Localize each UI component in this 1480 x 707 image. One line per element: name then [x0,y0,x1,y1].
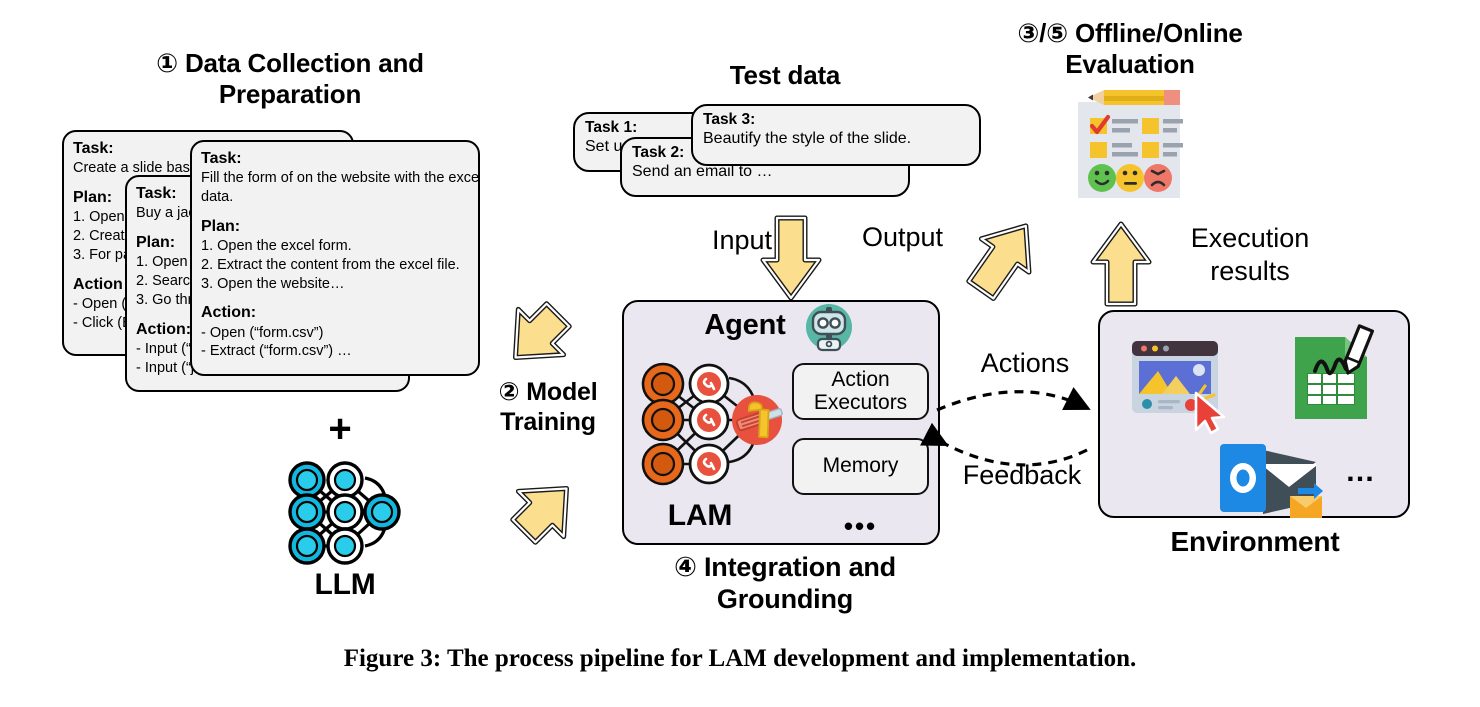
environment-label: Environment [1100,525,1410,558]
card3-plan-3: 3. Open the website… [201,275,469,294]
execution-results-line1: Execution [1160,222,1340,255]
figure-canvas: ① Data Collection and Preparation Task: … [0,0,1480,707]
robot-icon [805,303,853,351]
lam-label: LAM [645,498,755,533]
testdata-title: Test data [660,60,910,91]
execution-results-line2: results [1160,255,1340,288]
arrow-up-right-output-icon [962,210,1050,302]
module-action-executors[interactable]: Action Executors [792,363,929,420]
spreadsheet-pen-icon [1285,325,1381,430]
stage1-title: ① Data Collection and Preparation [95,48,485,109]
module-memory-label: Memory [823,455,899,477]
module-action-executors-line1: Action [831,369,889,391]
arrow-up-right-icon [500,470,592,548]
llm-label: LLM [280,567,410,602]
card3-action-2: - Extract (“form.csv”) … [201,342,469,361]
test-card3-label: Task 3: [703,110,969,129]
card3-plan-2: 2. Extract the content from the excel fi… [201,256,469,275]
outlook-mail-icon [1218,440,1328,515]
training-sample-card-3[interactable]: Task: Fill the form of on the website wi… [190,140,480,376]
agent-title: Agent [680,308,810,342]
evaluation-checklist-icon [1068,88,1190,200]
actions-label: Actions [950,348,1100,379]
plus-symbol: + [305,406,375,453]
stage4-title-line1: ④ Integration and [620,552,950,584]
neural-network-icon [270,450,420,570]
evaluation-title-line1: ③/⑤ Offline/Online [950,18,1310,49]
module-action-executors-line2: Executors [814,392,907,414]
stage1-title-line2: Preparation [95,79,485,110]
card3-task-label: Task: [201,148,469,169]
web-browser-icon [1128,335,1243,435]
evaluation-title: ③/⑤ Offline/Online Evaluation [950,18,1310,79]
stage4-title: ④ Integration and Grounding [620,552,950,616]
card3-action-1: - Open (“form.csv”) [201,324,469,343]
stage2-title-line1: ② Model [478,378,618,408]
card3-task-text-2: data. [201,188,469,207]
card3-task-text-1: Fill the form of on the website with the… [201,169,469,188]
output-label: Output [862,222,972,253]
feedback-label: Feedback [942,460,1102,491]
agent-more-modules: ••• [792,520,929,533]
environment-more: … [1330,455,1390,489]
stage4-title-line2: Grounding [620,584,950,616]
card3-plan-1: 1. Open the excel form. [201,237,469,256]
card3-action-label: Action: [201,302,469,323]
test-task-card-3[interactable]: Task 3: Beautify the style of the slide. [691,104,981,166]
execution-results-label: Execution results [1160,222,1340,288]
figure-caption: Figure 3: The process pipeline for LAM d… [0,645,1480,673]
lam-network-icon [637,358,802,498]
arrow-down-right-icon [490,300,582,375]
stage2-title-line2: Training [478,408,618,438]
arrow-up-execution-icon [1085,218,1157,310]
stage1-title-line1: ① Data Collection and [95,48,485,79]
stage2-title: ② Model Training [478,378,618,437]
module-memory[interactable]: Memory [792,438,929,495]
arrow-down-icon [755,212,827,304]
card3-plan-label: Plan: [201,216,469,237]
evaluation-title-line2: Evaluation [950,49,1310,80]
test-card3-text: Beautify the style of the slide. [703,129,969,149]
